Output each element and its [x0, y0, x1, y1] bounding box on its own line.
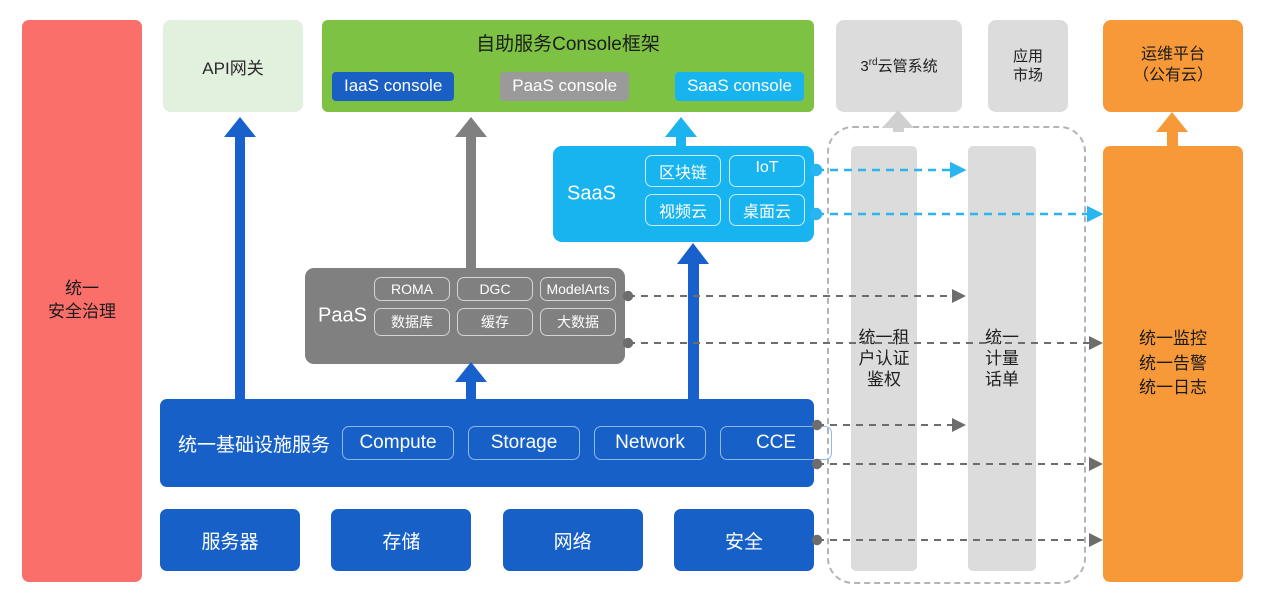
ops-body-line3: 统一日志 — [1139, 376, 1207, 401]
console-badge-row: IaaS console PaaS console SaaS console — [332, 72, 804, 101]
app-market-label-line1: 应用 — [1013, 47, 1043, 67]
hardware-row: 服务器 存储 网络 安全 — [160, 509, 814, 571]
app-market-label-line2: 市场 — [1013, 66, 1043, 86]
badge-iaas-console[interactable]: IaaS console — [332, 72, 454, 101]
infra-chip-network[interactable]: Network — [594, 426, 706, 460]
third-party-cloud-management-box: 3rd云管系统 — [836, 20, 962, 112]
ops-platform-title-line2: （公有云） — [1133, 66, 1213, 87]
paas-label: PaaS — [318, 305, 367, 328]
auth-label-line2: 户认证 — [851, 348, 917, 369]
api-gateway-label: API网关 — [202, 54, 263, 79]
infra-chip-compute[interactable]: Compute — [342, 426, 454, 460]
arrow-iaas-to-api-gateway — [224, 117, 256, 399]
metering-label-line3: 话单 — [968, 369, 1036, 390]
infra-chip-cce[interactable]: CCE — [720, 426, 832, 460]
paas-chip-cache[interactable]: 缓存 — [457, 308, 533, 336]
saas-chip-iot[interactable]: IoT — [729, 155, 805, 187]
hardware-box-network[interactable]: 网络 — [503, 509, 643, 571]
console-frame-title: 自助服务Console框架 — [322, 29, 814, 56]
paas-chip-bigdata[interactable]: 大数据 — [540, 308, 616, 336]
saas-chip-desktop-cloud[interactable]: 桌面云 — [729, 194, 805, 226]
paas-chip-dgc[interactable]: DGC — [457, 277, 533, 301]
third-party-cloud-label: 3rd云管系统 — [860, 56, 937, 77]
metering-label-line1: 统一 — [968, 327, 1036, 348]
ops-body-line2: 统一告警 — [1139, 352, 1207, 377]
ops-body-line1: 统一监控 — [1139, 327, 1207, 352]
saas-chip-video-cloud[interactable]: 视频云 — [645, 194, 721, 226]
paas-block: PaaS ROMA DGC ModelArts 数据库 缓存 大数据 — [305, 268, 625, 364]
arrow-saas-to-console — [665, 117, 697, 146]
architecture-diagram: 统一 安全治理 API网关 自助服务Console框架 IaaS console… — [0, 0, 1265, 605]
unified-metering-billing-column: 统一 计量 话单 — [968, 146, 1036, 571]
saas-chip-blockchain[interactable]: 区块链 — [645, 155, 721, 187]
saas-service-grid: 区块链 IoT 视频云 桌面云 — [645, 155, 805, 226]
arrow-paas-to-console — [455, 117, 487, 268]
arrow-iaas-to-saas — [677, 243, 709, 399]
paas-service-grid: ROMA DGC ModelArts 数据库 缓存 大数据 — [374, 277, 616, 336]
paas-chip-roma[interactable]: ROMA — [374, 277, 450, 301]
hardware-box-server[interactable]: 服务器 — [160, 509, 300, 571]
ops-platform-header-box: 运维平台 （公有云） — [1103, 20, 1243, 112]
api-gateway-box: API网关 — [163, 20, 303, 112]
app-market-box: 应用 市场 — [988, 20, 1068, 112]
auth-label-line1: 统一租 — [851, 327, 917, 348]
security-label-line2: 安全治理 — [48, 301, 116, 324]
unified-infrastructure-service-bar: 统一基础设施服务 Compute Storage Network CCE — [160, 399, 814, 487]
badge-paas-console[interactable]: PaaS console — [500, 72, 629, 101]
infra-bar-label: 统一基础设施服务 — [178, 430, 330, 457]
ops-platform-body-panel: 统一监控 统一告警 统一日志 — [1103, 146, 1243, 582]
metering-label-line2: 计量 — [968, 348, 1036, 369]
paas-chip-modelarts[interactable]: ModelArts — [540, 277, 616, 301]
infra-chip-storage[interactable]: Storage — [468, 426, 580, 460]
hardware-box-storage[interactable]: 存储 — [331, 509, 471, 571]
security-label-line1: 统一 — [48, 278, 116, 301]
saas-label: SaaS — [567, 183, 616, 206]
arrow-ops-body-to-header — [1156, 112, 1188, 146]
saas-block: SaaS 区块链 IoT 视频云 桌面云 — [553, 146, 814, 242]
unified-security-governance-panel: 统一 安全治理 — [22, 20, 142, 582]
auth-label-line3: 鉴权 — [851, 369, 917, 390]
ops-platform-title-line1: 运维平台 — [1133, 45, 1213, 66]
self-service-console-frame: 自助服务Console框架 IaaS console PaaS console … — [322, 20, 814, 112]
arrow-iaas-to-paas — [455, 362, 487, 399]
unified-tenant-auth-column: 统一租 户认证 鉴权 — [851, 146, 917, 571]
badge-saas-console[interactable]: SaaS console — [675, 72, 804, 101]
hardware-box-security[interactable]: 安全 — [674, 509, 814, 571]
paas-chip-database[interactable]: 数据库 — [374, 308, 450, 336]
infra-chip-row: Compute Storage Network CCE — [342, 426, 832, 460]
